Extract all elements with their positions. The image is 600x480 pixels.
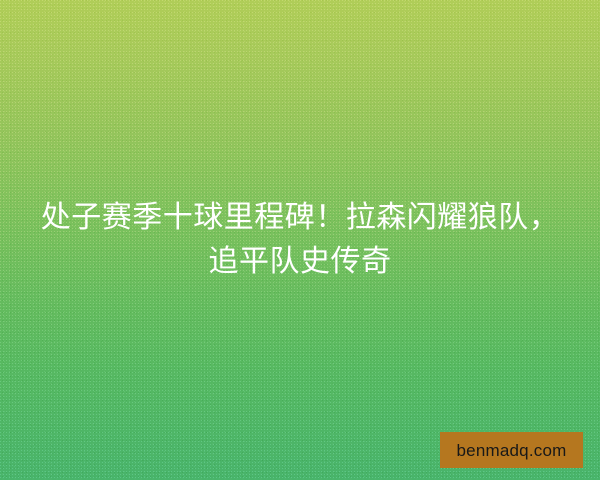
- watermark-label: benmadq.com: [457, 442, 567, 459]
- title-container: 处子赛季十球里程碑！拉森闪耀狼队，追平队史传奇: [0, 196, 600, 284]
- watermark-badge: benmadq.com: [440, 432, 583, 468]
- article-cover-image: 处子赛季十球里程碑！拉森闪耀狼队，追平队史传奇 benmadq.com: [0, 0, 600, 480]
- page-title: 处子赛季十球里程碑！拉森闪耀狼队，追平队史传奇: [28, 196, 572, 284]
